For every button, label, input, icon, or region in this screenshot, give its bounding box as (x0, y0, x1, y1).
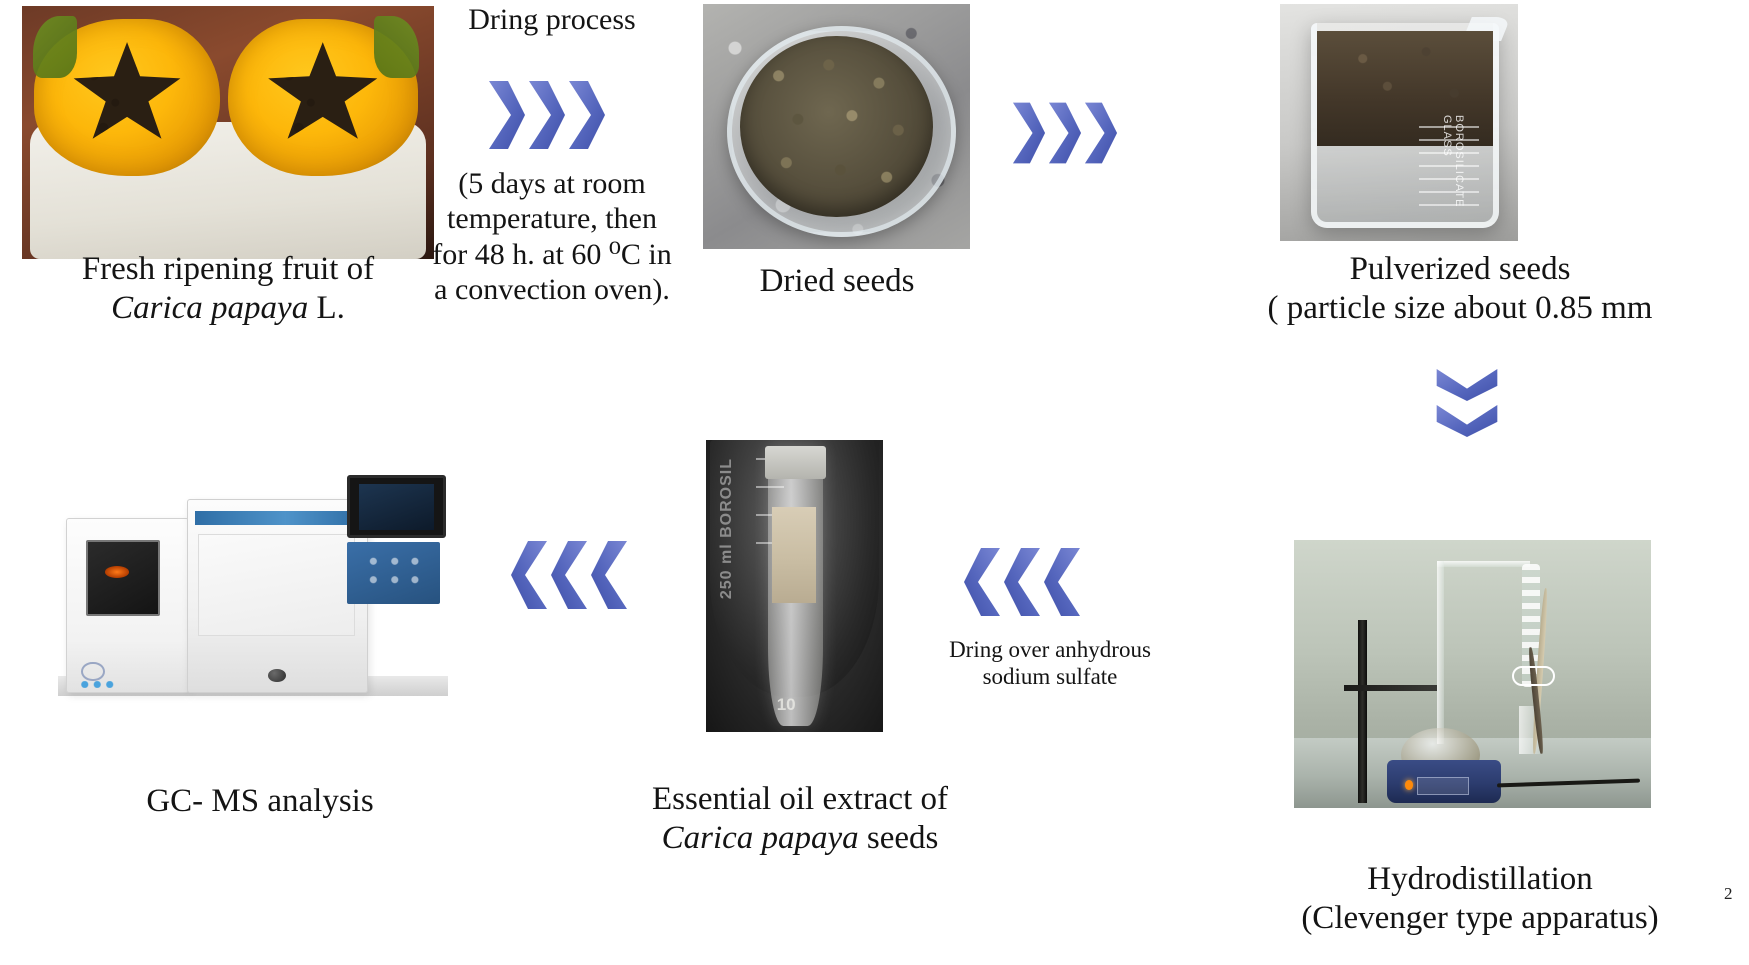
essential-oil-caption-line1: Essential oil extract of (570, 780, 1030, 819)
dried-seed-pile (740, 36, 932, 217)
vial-volume-label: 10 (777, 695, 796, 715)
pulverized-caption-line2: ( particle size about 0.85 mm (1180, 289, 1740, 328)
drying-process-arrow (486, 78, 608, 152)
pulverized-caption-line1: Pulverized seeds (1180, 250, 1740, 289)
gc-indicator-lights (79, 681, 127, 688)
pulverized-seeds-photo: BOROSILICATE GLASS (1280, 4, 1518, 241)
drying-detail-line2: temperature, then (418, 201, 686, 236)
stand-clamp (1344, 685, 1437, 692)
hydrodistillation-caption-line1: Hydrodistillation (1280, 860, 1680, 899)
hydrodistillation-photo (1294, 540, 1651, 808)
dried-seeds-photo (703, 4, 970, 249)
papaya-half-left (34, 19, 219, 176)
beaker-borosilicate-label: BOROSILICATE GLASS (1441, 115, 1465, 223)
chevron-left-icon (548, 538, 590, 612)
oil-collection-highlight (1512, 666, 1555, 686)
mantle-control-panel (1417, 777, 1469, 795)
drying-detail-line4: a convection oven). (418, 272, 686, 307)
chevron-right-icon (1010, 100, 1048, 166)
papaya-seed-cluster-right (262, 42, 383, 152)
pulverized-seeds-caption: Pulverized seeds ( particle size about 0… (1180, 250, 1740, 328)
chevron-left-icon (961, 545, 1003, 619)
glass-beaker: BOROSILICATE GLASS (1311, 23, 1499, 228)
ms-front-door (198, 534, 354, 636)
dried-seeds-caption: Dried seeds (670, 262, 1004, 301)
essential-oil-liquid (772, 507, 816, 602)
page-marker: 2 (1724, 884, 1733, 904)
control-panel-ports (362, 552, 426, 594)
drying-detail-line3: for 48 h. at 60 ⁰C in (418, 237, 686, 272)
chevron-right-icon (566, 78, 608, 152)
essential-oil-photo: 250 ml BOROSIL 10 (706, 440, 883, 732)
fruit-caption-line2: Carica papaya L. (8, 289, 448, 328)
gc-oven-window (86, 540, 160, 617)
hydrodistillation-caption: Hydrodistillation (Clevenger type appara… (1280, 860, 1680, 938)
essential-oil-caption: Essential oil extract of Carica papaya s… (570, 780, 1030, 858)
to-hydrodistillation-arrow (1434, 366, 1500, 440)
fresh-papaya-fruit-photo (22, 6, 434, 259)
side-control-panel (347, 542, 441, 604)
chevron-down-icon (1434, 402, 1500, 440)
ms-detector-unit (187, 499, 368, 693)
chevron-right-icon (1082, 100, 1120, 166)
gc-oven-unit (66, 518, 189, 693)
fruit-caption: Fresh ripening fruit of Carica papaya L. (8, 250, 448, 328)
papaya-half-right (228, 19, 418, 176)
chevron-right-icon (486, 78, 528, 152)
gc-oven-glow (105, 566, 129, 578)
vial-cap (765, 446, 826, 480)
essential-oil-species-suffix: seeds (859, 820, 939, 856)
computer-monitor (347, 475, 447, 539)
essential-oil-vial: 10 (768, 446, 823, 726)
glass-tube-vertical (1437, 561, 1444, 743)
chevron-left-icon (1001, 545, 1043, 619)
essential-oil-species-name: Carica papaya (662, 820, 859, 856)
sodium-sulfate-note-line1: Dring over anhydrous (905, 636, 1195, 663)
grinding-arrow (1010, 100, 1120, 166)
sodium-sulfate-note: Dring over anhydrous sodium sulfate (905, 636, 1195, 690)
retort-stand (1358, 620, 1367, 802)
ms-top-strip (195, 511, 360, 524)
to-gcms-arrow (508, 538, 630, 612)
sodium-sulfate-note-line2: sodium sulfate (905, 663, 1195, 690)
mantle-power-led (1405, 780, 1413, 789)
manufacturer-logo (81, 662, 104, 682)
chevron-left-icon (508, 538, 550, 612)
sodium-sulfate-drying-arrow (961, 545, 1083, 619)
papaya-seed-cluster-left (68, 42, 187, 152)
gc-ms-instrument-photo (58, 470, 448, 710)
chevron-right-icon (1046, 100, 1084, 166)
chevron-down-icon (1434, 366, 1500, 404)
chevron-left-icon (1041, 545, 1083, 619)
fruit-species-name: Carica papaya (111, 290, 308, 326)
chevron-right-icon (526, 78, 568, 152)
gcms-caption: GC- MS analysis (60, 782, 460, 821)
chevron-left-icon (588, 538, 630, 612)
heating-mantle (1387, 760, 1501, 803)
glass-tube-horizontal (1437, 561, 1530, 566)
fruit-caption-line1: Fresh ripening fruit of (8, 250, 448, 289)
drying-detail-line1: (5 days at room (418, 166, 686, 201)
fruit-species-suffix: L. (308, 290, 345, 326)
workflow-figure: Fresh ripening fruit of Carica papaya L.… (0, 0, 1749, 965)
essential-oil-caption-line2: Carica papaya seeds (570, 819, 1030, 858)
monitor-screen (359, 484, 434, 530)
borosil-label-text: 250 ml BOROSIL (718, 458, 736, 599)
drying-process-title: Dring process (420, 2, 684, 37)
drying-process-details: (5 days at room temperature, then for 48… (418, 166, 686, 308)
ms-knob (268, 669, 286, 682)
hydrodistillation-caption-line2: (Clevenger type apparatus) (1280, 899, 1680, 938)
